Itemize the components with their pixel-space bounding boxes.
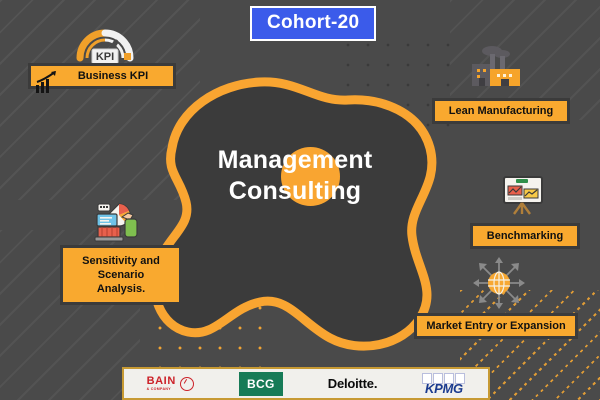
chip-sensitivity-line-3: Analysis. [97, 282, 145, 296]
chip-market-entry-label: Market Entry or Expansion [426, 319, 565, 333]
page-title-line-1: Management [170, 145, 420, 176]
logo-bain-sub: & COMPANY [147, 388, 171, 392]
infographic-canvas: Management Consulting Cohort-20 KPI Busi… [0, 0, 600, 400]
chip-business-kpi-label: Business KPI [78, 69, 148, 83]
logo-deloitte-dot: . [374, 376, 377, 391]
data-analytics-icon [92, 195, 146, 243]
page-title: Management Consulting [170, 145, 420, 207]
kpi-gauge-label: KPI [96, 51, 114, 63]
logo-bcg-text: BCG [239, 372, 283, 396]
chip-benchmarking-label: Benchmarking [487, 229, 563, 243]
central-blob-shape [120, 60, 450, 360]
chip-benchmarking[interactable]: Benchmarking [470, 223, 580, 249]
logo-deloitte-text: Deloitte [328, 376, 374, 391]
factory-icon [466, 42, 526, 92]
chip-sensitivity-analysis[interactable]: Sensitivity and Scenario Analysis. [60, 245, 182, 305]
presentation-board-icon [500, 172, 546, 218]
cohort-badge: Cohort-20 [250, 6, 376, 41]
chip-market-entry[interactable]: Market Entry or Expansion [414, 313, 578, 339]
chip-sensitivity-line-2: Scenario [98, 268, 144, 282]
chip-lean-manufacturing[interactable]: Lean Manufacturing [432, 98, 570, 124]
bain-circle-mark-icon [180, 377, 194, 391]
logo-bcg: BCG [239, 372, 283, 396]
bar-chart-growth-icon [34, 70, 60, 94]
logo-bain-main: BAIN [147, 376, 176, 387]
kpi-gauge-icon: KPI [72, 14, 138, 66]
logo-deloitte: Deloitte. [328, 376, 378, 391]
partner-logo-bar: BAIN & COMPANY BCG Deloitte. KPMG [122, 367, 490, 400]
globe-expansion-icon [472, 256, 526, 310]
chip-sensitivity-line-1: Sensitivity and [82, 254, 160, 268]
logo-kpmg-text: KPMG [425, 382, 463, 395]
logo-kpmg: KPMG [422, 373, 465, 395]
page-title-line-2: Consulting [170, 176, 420, 207]
chip-lean-manufacturing-label: Lean Manufacturing [449, 104, 554, 118]
logo-bain-and-company: BAIN & COMPANY [147, 376, 194, 392]
